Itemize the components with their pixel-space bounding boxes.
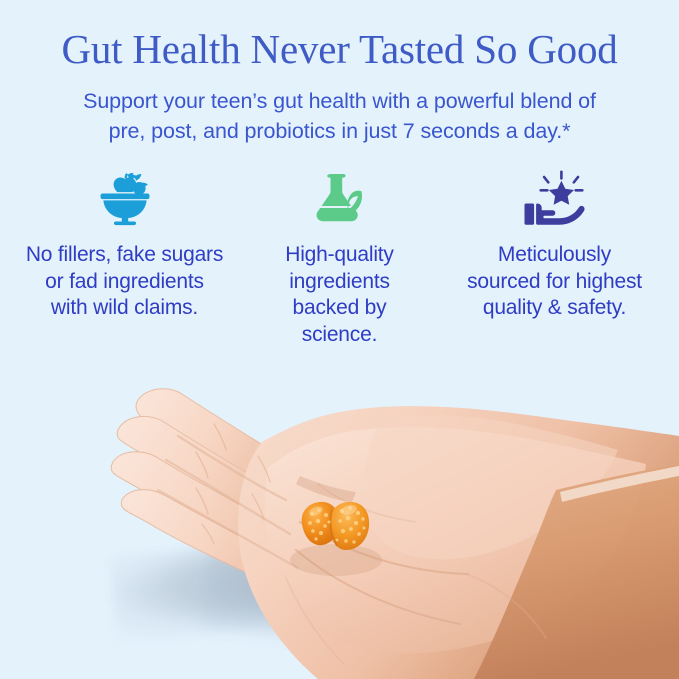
feature-label: Meticulously sourced for highest quality… [466, 242, 644, 322]
feature-item-no-fillers: No fillers, fake sugars or fad ingredien… [22, 168, 227, 322]
subtitle-line-2: pre, post, and probiotics in just 7 seco… [109, 119, 571, 143]
product-photo [0, 372, 679, 679]
hand-star-icon [521, 168, 589, 230]
subtitle-line-1: Support your teen’s gut health with a po… [83, 89, 596, 113]
product-infographic: Gut Health Never Tasted So Good Support … [0, 0, 679, 679]
page-subtitle: Support your teen’s gut health with a po… [40, 86, 640, 146]
feature-item-high-quality: High-quality ingredients backed by scien… [237, 168, 442, 348]
feature-item-meticulously-sourced: Meticulously sourced for highest quality… [452, 168, 657, 322]
feature-label: High-quality ingredients backed by scien… [260, 242, 420, 348]
feature-list: No fillers, fake sugars or fad ingredien… [22, 168, 657, 348]
bowl-of-fruit-icon [94, 168, 156, 230]
page-title: Gut Health Never Tasted So Good [0, 26, 679, 72]
flask-leaf-icon [311, 168, 369, 230]
gummy-candies [296, 496, 374, 558]
feature-label: No fillers, fake sugars or fad ingredien… [25, 242, 225, 322]
